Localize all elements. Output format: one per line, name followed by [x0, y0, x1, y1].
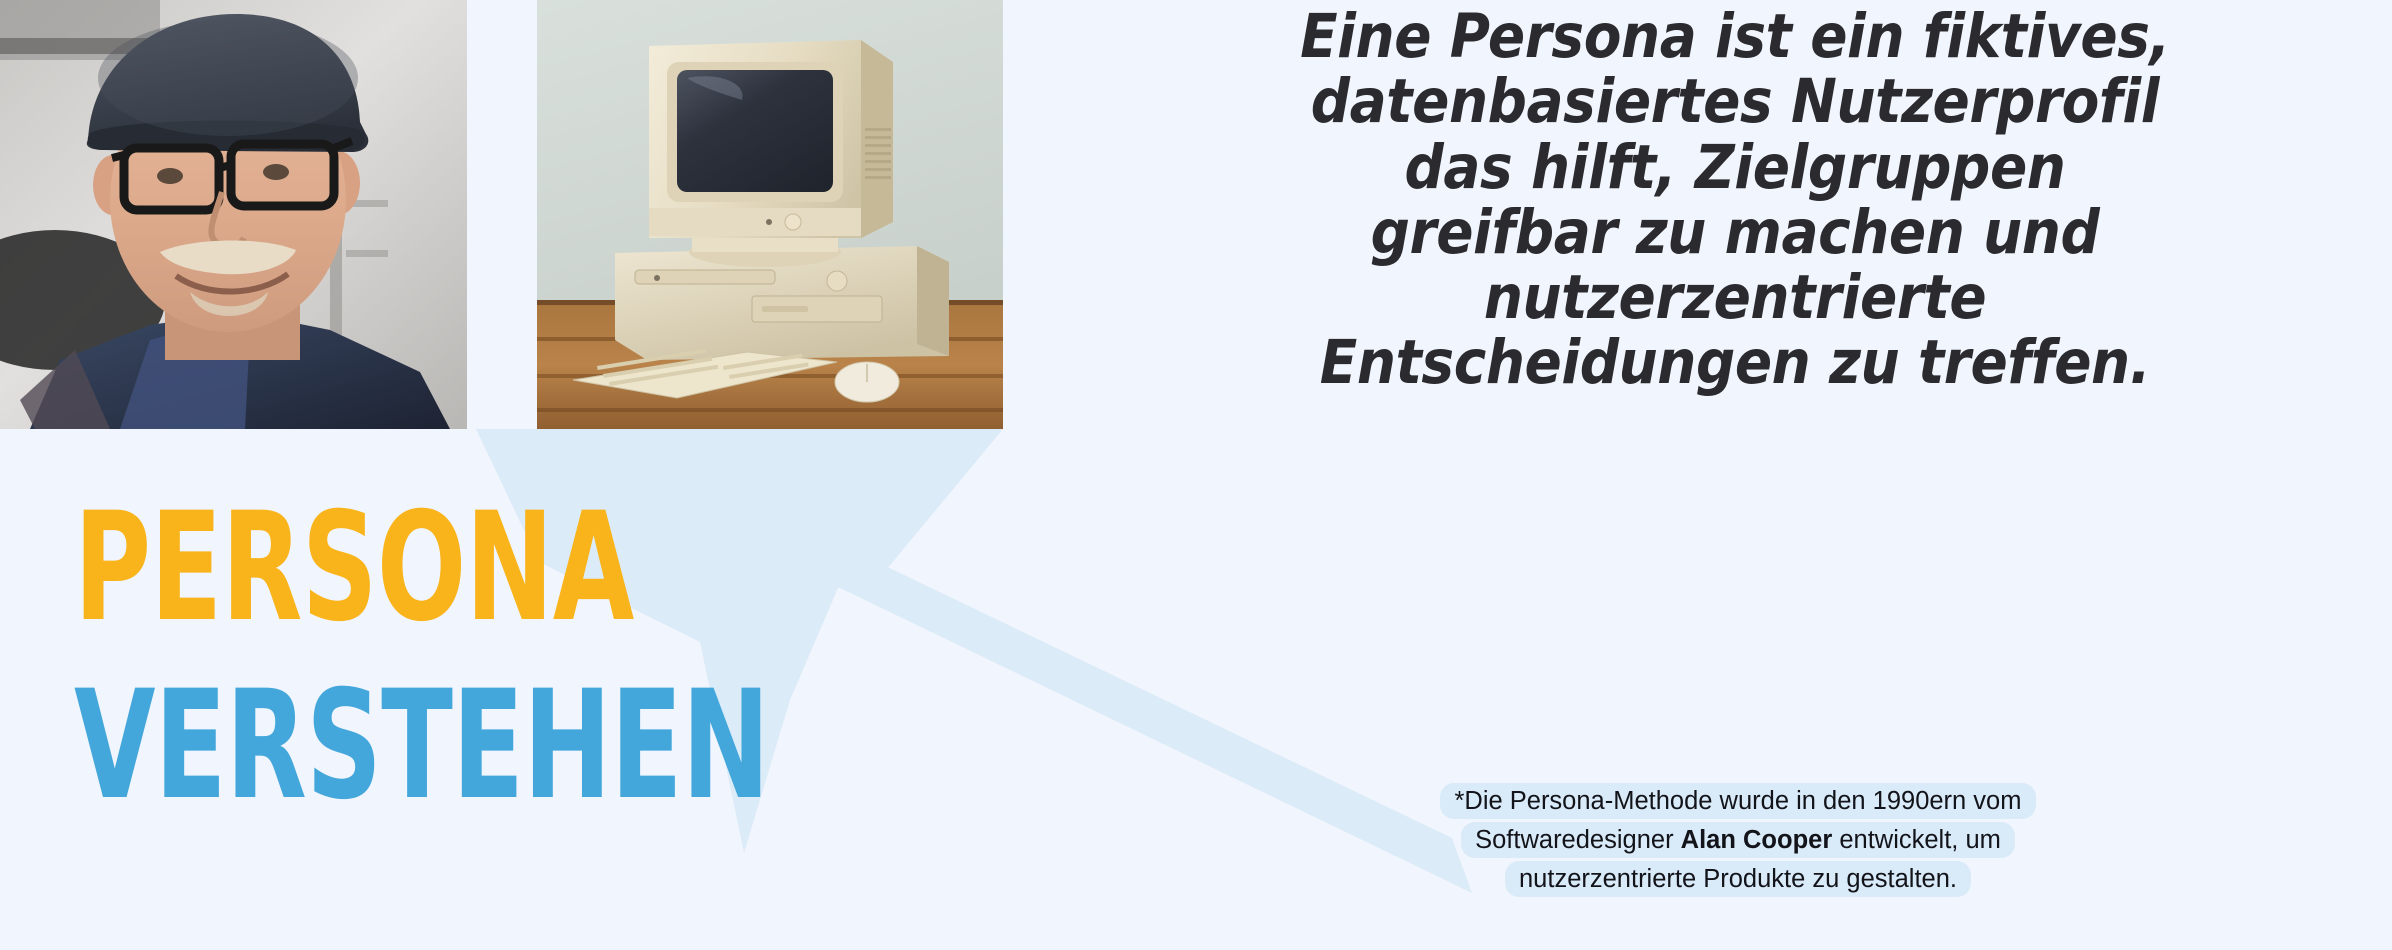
headline-line-6: Entscheidungen zu treffen. — [1320, 327, 2150, 398]
headline-line-4: greifbar zu machen und — [1371, 197, 2100, 268]
headline-line-3: das hilft, Zielgruppen — [1405, 132, 2066, 203]
page-title: PERSONA VERSTEHEN — [74, 502, 774, 812]
headline-line-1: Eine Persona ist ein fiktives, — [1300, 1, 2170, 72]
title-line-verstehen: VERSTEHEN — [74, 680, 620, 812]
footnote-person-name: Alan Cooper — [1681, 826, 1833, 854]
title-line-persona: PERSONA — [74, 502, 620, 634]
footnote-highlight: *Die Persona-Methode wurde in den 1990er… — [1440, 783, 2035, 897]
headline-line-5: nutzerzentrierte — [1484, 262, 1986, 333]
vintage-computer-photo — [537, 0, 1003, 429]
slide-canvas: PERSONA VERSTEHEN Eine Persona ist ein f… — [0, 0, 2392, 950]
footnote: *Die Persona-Methode wurde in den 1990er… — [1438, 782, 2038, 898]
portrait-photo — [0, 0, 467, 429]
headline-line-2: datenbasiertes Nutzerprofil — [1311, 66, 2159, 137]
headline-text: Eine Persona ist ein fiktives, datenbasi… — [1190, 4, 2280, 396]
